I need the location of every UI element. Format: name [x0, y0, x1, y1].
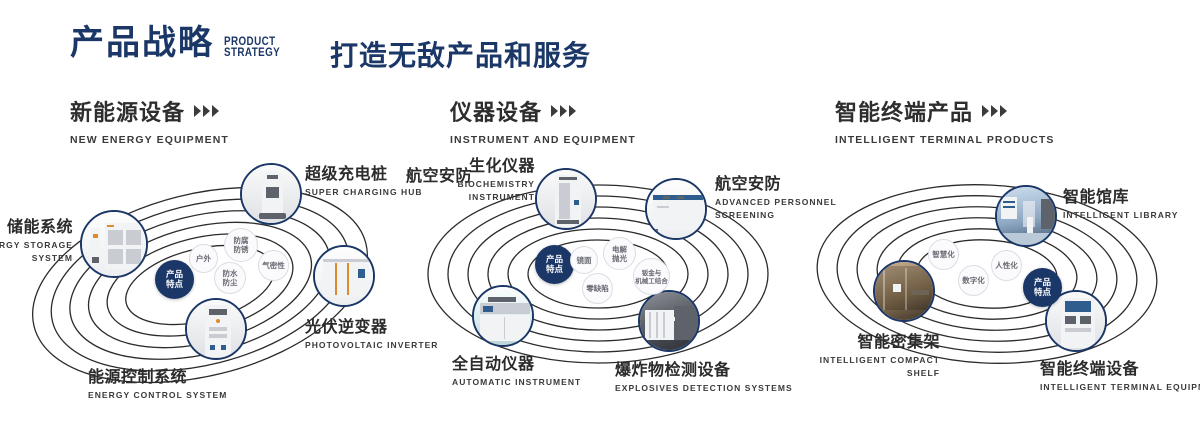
label-en2-energy-storage: SYSTEM [0, 253, 73, 263]
section-header-intelligent: 智能终端产品 INTELLIGENT TERMINAL PRODUCTS [835, 95, 1055, 146]
label-intelligent-library: 智能馆库 INTELLIGENT LIBRARY [1063, 183, 1179, 220]
node-photovoltaic-inverter[interactable] [313, 245, 375, 307]
feature-bubble-airtight: 气密性 [258, 250, 289, 281]
node-photo-energy-storage [82, 212, 146, 276]
feature-bubble-digital: 数字化 [958, 265, 989, 296]
label-en1-intelligent-library: INTELLIGENT LIBRARY [1063, 210, 1179, 220]
label-energy-control-system: 能源控制系统 ENERGY CONTROL SYSTEM [88, 363, 227, 400]
brand-title-en: PRODUCT STRATEGY [224, 36, 280, 58]
core-badge-line1-3: 产品 [1034, 278, 1051, 288]
section-title-cn-2: 智能终端产品 [835, 95, 1055, 127]
section-title-cn-text-1: 仪器设备 [450, 95, 542, 127]
chevron-right-icon-0 [194, 105, 221, 117]
node-automatic-instrument[interactable] [472, 285, 534, 347]
section-title-en-2: INTELLIGENT TERMINAL PRODUCTS [835, 134, 1055, 146]
brand-title-cn: 产品战略 [70, 26, 214, 60]
core-badge-line2-3: 特点 [1034, 288, 1051, 298]
label-intelligent-terminal-equipment: 智能终端设备 INTELLIGENT TERMINAL EQUIPMENT [1040, 355, 1200, 392]
section-title-cn-0: 新能源设备 [70, 95, 229, 127]
core-badge-line2-1: 特点 [166, 280, 183, 290]
node-photo-biochemistry [537, 170, 595, 228]
node-biochemistry-instrument[interactable] [535, 168, 597, 230]
label-cn-biochemistry: 生化仪器 [380, 152, 535, 176]
section-title-cn-text-2: 智能终端产品 [835, 95, 973, 127]
label-en1-explosives-detection: EXPLOSIVES DETECTION SYSTEMS [615, 383, 793, 393]
node-intelligent-compact-shelf[interactable] [873, 260, 935, 322]
label-en1-biochemistry: BIOCHEMISTRY [380, 179, 535, 189]
section-title-cn-1: 仪器设备 [450, 95, 636, 127]
node-advanced-personnel-screening[interactable] [645, 178, 707, 240]
chevron-right-icon-2 [982, 105, 1009, 117]
core-badge-line2-2: 特点 [546, 265, 563, 275]
label-intelligent-compact-shelf: 智能密集架 INTELLIGENT COMPACT SHELF [765, 328, 940, 378]
label-en1-terminal-equipment: INTELLIGENT TERMINAL EQUIPMENT [1040, 382, 1200, 392]
node-photo-automatic-instrument [474, 287, 532, 345]
chevron-right-icon-1 [551, 105, 578, 117]
feature-bubble-humanized: 人性化 [991, 250, 1022, 281]
core-badge-line1-2: 产品 [546, 255, 563, 265]
label-en2-compact-shelf: SHELF [765, 368, 940, 378]
label-en2-biochemistry: INSTRUMENT [380, 192, 535, 202]
core-badge-line1-1: 产品 [166, 270, 183, 280]
node-super-charging-hub[interactable] [240, 163, 302, 225]
brand-header: 产品战略 PRODUCT STRATEGY [70, 26, 292, 60]
label-cn-energy-storage: 储能系统 [0, 213, 73, 237]
feature-bubble-mirror-finish: 镜面 [570, 246, 598, 274]
node-energy-control-system[interactable] [185, 298, 247, 360]
label-biochemistry-instrument: 生化仪器 BIOCHEMISTRY INSTRUMENT [380, 152, 535, 202]
label-cn-automatic-instrument: 全自动仪器 [452, 350, 581, 374]
feature-bubble-intelligent: 智慧化 [928, 239, 959, 270]
label-en1-energy-storage: ENERGY STORAGE [0, 240, 73, 250]
core-badge-product-features-3: 产品 特点 [1023, 268, 1062, 307]
core-badge-product-features-1: 产品 特点 [155, 260, 194, 299]
node-photo-energy-control [187, 300, 245, 358]
page-headline: 打造无敌产品和服务 [330, 34, 591, 74]
feature-bubble-electropolishing: 电解 抛光 [603, 237, 636, 270]
label-en1-automatic-instrument: AUTOMATIC INSTRUMENT [452, 377, 581, 387]
node-intelligent-library[interactable] [995, 185, 1057, 247]
feature-bubble-sheetmetal-machining: 钣金与 机械工结合 [633, 258, 670, 295]
node-photo-pv-inverter [315, 247, 373, 305]
feature-bubble-waterproof: 防水 防尘 [214, 262, 246, 294]
label-automatic-instrument: 全自动仪器 AUTOMATIC INSTRUMENT [452, 350, 581, 387]
feature-bubble-zero-defect: 零缺陷 [582, 273, 613, 304]
label-en1-energy-control: ENERGY CONTROL SYSTEM [88, 390, 227, 400]
node-photo-compact-shelf [875, 262, 933, 320]
label-energy-storage-system: 储能系统 ENERGY STORAGE SYSTEM [0, 213, 73, 263]
node-photo-personnel-screening [647, 180, 705, 238]
node-photo-intelligent-library [997, 187, 1055, 245]
label-cn-terminal-equipment: 智能终端设备 [1040, 355, 1200, 379]
brand-title-en-line2: STRATEGY [224, 47, 280, 58]
feature-bubble-outdoor: 户外 [189, 244, 218, 273]
diagram-group-instrument: 航空安防 生化仪器 BIOCHEMISTRY INSTRUMENT 航空安防 A… [400, 150, 800, 410]
section-title-cn-text-0: 新能源设备 [70, 95, 185, 127]
label-cn-compact-shelf: 智能密集架 [765, 328, 940, 352]
label-cn-intelligent-library: 智能馆库 [1063, 183, 1179, 207]
label-cn-energy-control: 能源控制系统 [88, 363, 227, 387]
section-title-en-1: INSTRUMENT AND EQUIPMENT [450, 134, 636, 146]
section-title-en-0: NEW ENERGY EQUIPMENT [70, 134, 229, 146]
label-en1-compact-shelf: INTELLIGENT COMPACT [765, 355, 940, 365]
section-header-new-energy: 新能源设备 NEW ENERGY EQUIPMENT [70, 95, 229, 146]
node-explosives-detection-systems[interactable] [638, 290, 700, 352]
product-strategy-infographic: 产品战略 PRODUCT STRATEGY 打造无敌产品和服务 新能源设备 NE… [0, 0, 1200, 422]
feature-bubble-anticorrosion: 防腐 防锈 [224, 228, 258, 262]
section-header-instrument: 仪器设备 INSTRUMENT AND EQUIPMENT [450, 95, 636, 146]
node-photo-charging-hub [242, 165, 300, 223]
node-energy-storage-system[interactable] [80, 210, 148, 278]
core-badge-product-features-2: 产品 特点 [535, 245, 574, 284]
node-photo-explosives-detection [640, 292, 698, 350]
diagram-group-intelligent-terminal: 智能馆库 INTELLIGENT LIBRARY 智能密集架 INTELLIGE… [795, 150, 1195, 410]
diagram-group-new-energy: 储能系统 ENERGY STORAGE SYSTEM 超级充电桩 SUPER C… [0, 150, 400, 410]
